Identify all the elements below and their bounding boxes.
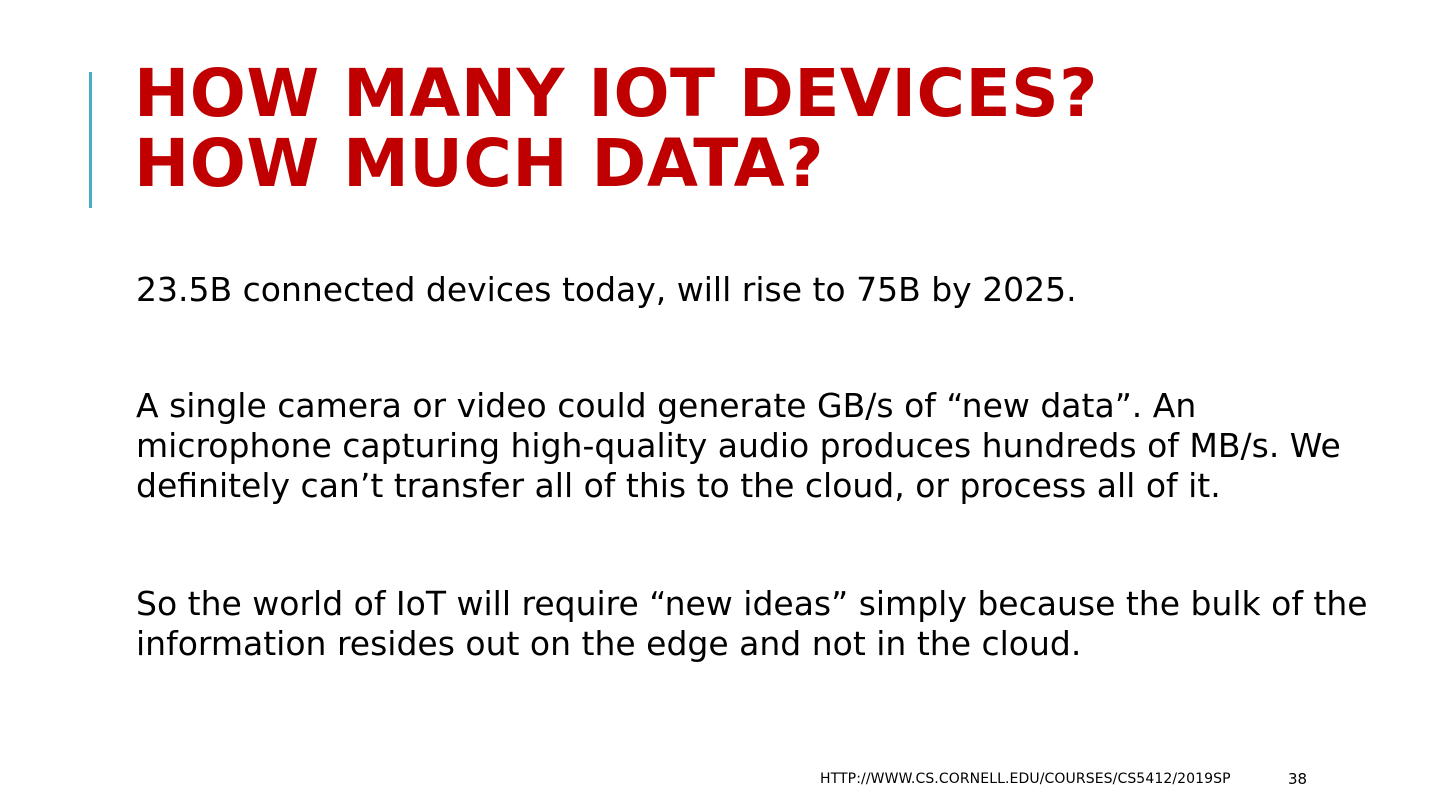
footer-url-text: HTTP://WWW.CS.CORNELL.EDU/COURSES/CS5412… <box>820 770 1231 788</box>
page-title: How many IoT devices? How much data? <box>134 59 1389 199</box>
paragraph-spacer <box>136 506 1386 584</box>
body-paragraph-3: So the world of IoT will require “new id… <box>136 584 1386 664</box>
body-content: 23.5B connected devices today, will rise… <box>136 270 1386 664</box>
title-block: How many IoT devices? How much data? <box>89 72 1389 212</box>
title-accent-bar <box>89 72 92 208</box>
slide-canvas: How many IoT devices? How much data? 23.… <box>0 0 1440 810</box>
slide-footer: HTTP://WWW.CS.CORNELL.EDU/COURSES/CS5412… <box>820 770 1320 792</box>
body-paragraph-2: A single camera or video could generate … <box>136 386 1386 506</box>
paragraph-spacer <box>136 310 1386 386</box>
body-paragraph-1: 23.5B connected devices today, will rise… <box>136 270 1386 310</box>
slide-number: 38 <box>1288 770 1307 788</box>
